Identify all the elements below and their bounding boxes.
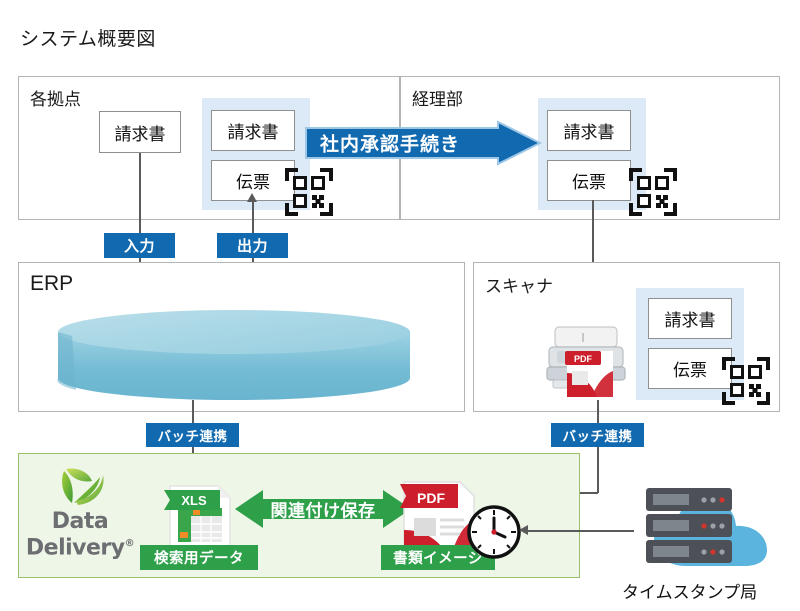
doc-slip-accounting: 伝票 [547,160,631,201]
label-input: 入力 [104,233,175,258]
link-save-label: 関連付け保存 [235,497,411,522]
doc-slip-scanner: 伝票 [648,348,732,389]
scanner-icon: PDF [545,325,627,397]
database-cylinder-icon [58,310,410,400]
panel-erp-label: ERP [30,272,73,296]
label-batch-left: バッチ連携 [146,423,239,447]
pdf-badge-text: PDF [417,490,445,506]
approval-flow-label: 社内承認手続き [320,130,460,157]
label-batch-right: バッチ連携 [551,423,644,447]
server-rack-icon [646,488,732,563]
connector-timestamp-line [528,530,634,532]
panel-accounting-label: 経理部 [412,85,463,110]
panel-branch-label: 各拠点 [30,85,81,110]
doc-invoice-scanner: 請求書 [648,298,732,339]
qr-code-icon-branch [285,168,333,216]
logo-line-1: Data [52,509,108,534]
approval-flow-arrow: 社内承認手続き [306,122,540,164]
qr-code-icon-accounting [629,168,677,216]
connector-output-arrowhead [247,193,257,202]
label-output: 出力 [217,233,288,258]
diagram-canvas: システム概要図 各拠点 経理部 請求書 請求書 伝票 請求書 伝票 [0,0,800,611]
doc-invoice-accounting: 請求書 [547,110,631,151]
logo-line-2: Delivery [26,535,125,560]
caption-search-data: 検索用データ [140,545,258,570]
qr-code-icon-scanner [722,357,770,405]
clock-icon [466,504,522,560]
svg-text:PDF: PDF [574,354,593,364]
leaf-logo-icon: Data Delivery® [12,463,148,563]
registered-mark: ® [125,538,135,549]
timestamp-authority-label: タイムスタンプ局 [622,578,757,603]
data-delivery-wordmark: Data Delivery® [12,511,148,559]
timestamp-authority-graphic [628,482,788,577]
doc-invoice-branch: 請求書 [211,110,295,151]
xls-badge-text: XLS [181,493,207,508]
panel-scanner-label: スキャナ [485,272,553,297]
doc-invoice-branch-left: 請求書 [99,111,181,153]
connector-timestamp-arrowhead [519,525,528,535]
link-save-arrow: 関連付け保存 [235,488,411,530]
page-title: システム概要図 [20,24,156,51]
